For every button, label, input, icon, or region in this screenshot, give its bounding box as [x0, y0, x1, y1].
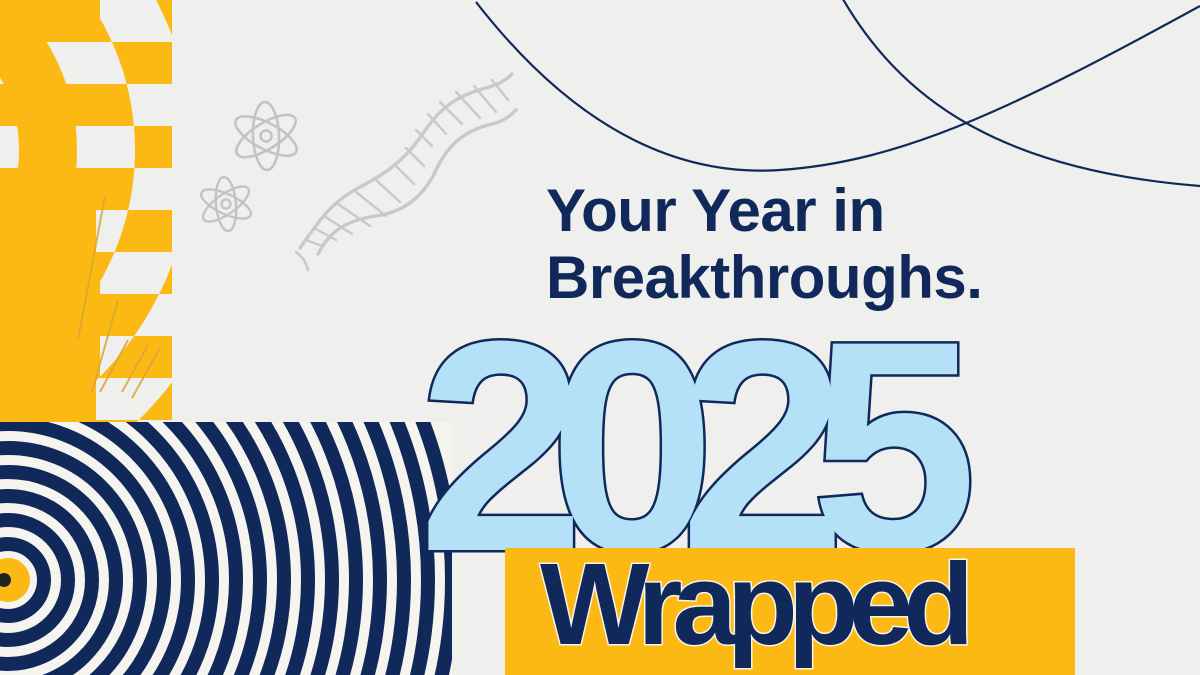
- wrapped-poster: Your Year in Breakthroughs. 2025 Wrapped: [0, 0, 1200, 675]
- curve-line-icon-lower: [840, 0, 1200, 186]
- atom-icon-small: [197, 176, 254, 232]
- atom-icon-large: [230, 102, 302, 171]
- curve-line-icon-upper: [476, 2, 1200, 171]
- page-title: Your Year in Breakthroughs.: [546, 177, 1166, 311]
- dna-helix-icon: [296, 74, 516, 270]
- wrapped-wordmark: Wrapped: [540, 546, 964, 662]
